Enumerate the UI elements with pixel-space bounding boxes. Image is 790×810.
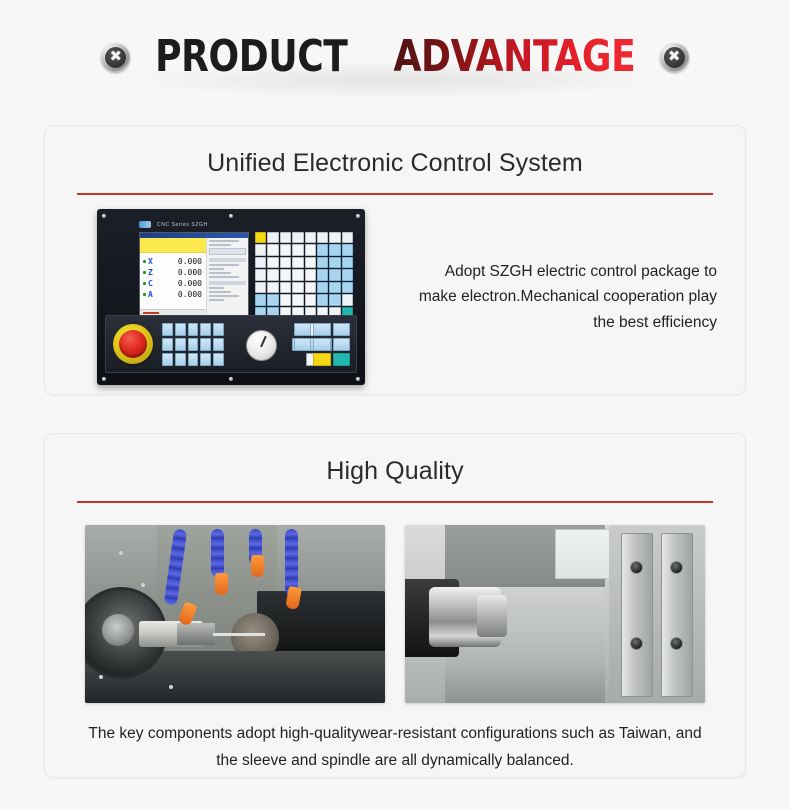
keypad-key-number-0[interactable] bbox=[329, 282, 340, 293]
mode-key[interactable] bbox=[162, 323, 173, 336]
linear-guide-rail bbox=[661, 533, 693, 697]
cycle-start-key[interactable] bbox=[313, 353, 330, 366]
cnc-info-panel bbox=[207, 238, 248, 317]
title-word-product: PRODUCT bbox=[155, 35, 347, 79]
mode-key[interactable] bbox=[162, 353, 173, 366]
mode-key[interactable] bbox=[175, 353, 186, 366]
feed-override-knob[interactable] bbox=[246, 330, 277, 361]
emergency-stop-button[interactable] bbox=[113, 324, 153, 364]
cnc-axis-row: Z 0.000 bbox=[143, 267, 204, 277]
card-1-title: Unified Electronic Control System bbox=[45, 126, 745, 178]
keypad-key-number-2[interactable] bbox=[329, 269, 340, 280]
keypad-key-arrow-up[interactable] bbox=[255, 294, 266, 305]
axis-value: 0.000 bbox=[178, 279, 204, 288]
keypad-key-letter[interactable] bbox=[267, 269, 278, 280]
card-1-body: CNC Series SZGH X 0.000 bbox=[45, 195, 745, 385]
cnc-operator-panel bbox=[105, 315, 357, 373]
feed-hold-key[interactable] bbox=[333, 353, 350, 366]
axis-name: X bbox=[148, 257, 157, 266]
page-title: ✖ PRODUCT ADVANTAGE ✖ bbox=[101, 35, 688, 79]
keypad-key-slash[interactable] bbox=[329, 294, 340, 305]
axis-name: A bbox=[148, 290, 157, 299]
spindle-key[interactable] bbox=[333, 323, 350, 336]
linear-guide-rail bbox=[621, 533, 653, 697]
screw-icon-left: ✖ bbox=[101, 43, 130, 72]
card-2-photo-row bbox=[45, 503, 745, 703]
cnc-axis-row: X 0.000 bbox=[143, 256, 204, 266]
keypad-key-minus[interactable] bbox=[317, 282, 328, 293]
photo-spindle-rails bbox=[405, 525, 705, 703]
mode-key[interactable] bbox=[200, 338, 211, 351]
card-high-quality: High Quality bbox=[44, 433, 746, 778]
keypad-key-alarm[interactable] bbox=[255, 232, 266, 243]
cnc-axis-panel: X 0.000 Z 0.000 C bbox=[140, 238, 207, 317]
cnc-screen-body: X 0.000 Z 0.000 C bbox=[140, 238, 248, 317]
keypad-key-decimal[interactable] bbox=[342, 282, 353, 293]
axis-value: 0.000 bbox=[178, 290, 204, 299]
keypad-key-function[interactable] bbox=[305, 232, 316, 243]
axis-status-dot-icon bbox=[143, 260, 146, 263]
mode-key[interactable] bbox=[213, 338, 224, 351]
keypad-key-number-1[interactable] bbox=[317, 269, 328, 280]
keypad-key-letter[interactable] bbox=[280, 294, 291, 305]
keypad-key-letter[interactable] bbox=[317, 294, 328, 305]
keypad-key-letter[interactable] bbox=[267, 244, 278, 255]
keypad-key-arrow-down[interactable] bbox=[267, 294, 278, 305]
keypad-key-number-5[interactable] bbox=[329, 257, 340, 268]
cnc-status-highlight bbox=[140, 238, 206, 253]
screw-icon-right: ✖ bbox=[660, 43, 689, 72]
title-word-advantage: ADVANTAGE bbox=[393, 35, 635, 79]
keypad-key-number-3[interactable] bbox=[342, 269, 353, 280]
keypad-key-letter[interactable] bbox=[305, 294, 316, 305]
panel-screw-icon bbox=[356, 214, 360, 218]
cnc-mode-key-block[interactable] bbox=[162, 323, 224, 366]
keypad-key-function[interactable] bbox=[255, 282, 266, 293]
cnc-spindle-key-block[interactable] bbox=[294, 323, 350, 366]
cnc-axis-row: A 0.000 bbox=[143, 289, 204, 299]
keypad-key-number-8[interactable] bbox=[329, 244, 340, 255]
panel-screw-icon bbox=[356, 377, 360, 381]
keypad-key-number-7[interactable] bbox=[317, 244, 328, 255]
spindle-key[interactable] bbox=[294, 323, 311, 336]
spindle-key[interactable] bbox=[294, 338, 311, 351]
panel-screw-icon bbox=[102, 214, 106, 218]
keypad-key-letter[interactable] bbox=[305, 257, 316, 268]
mode-key[interactable] bbox=[213, 323, 224, 336]
mode-key[interactable] bbox=[175, 338, 186, 351]
axis-value: 0.000 bbox=[178, 257, 204, 266]
mode-key[interactable] bbox=[200, 323, 211, 336]
keypad-key-number-9[interactable] bbox=[342, 244, 353, 255]
mode-key[interactable] bbox=[188, 338, 199, 351]
coolant-nozzle bbox=[215, 573, 228, 595]
mode-key[interactable] bbox=[213, 353, 224, 366]
mode-key[interactable] bbox=[188, 353, 199, 366]
keypad-key-letter[interactable] bbox=[267, 257, 278, 268]
mode-key[interactable] bbox=[188, 323, 199, 336]
panel-screw-icon bbox=[229, 214, 233, 218]
screw-cross-glyph: ✖ bbox=[109, 49, 122, 64]
axis-value: 0.000 bbox=[178, 268, 204, 277]
keypad-key-letter[interactable] bbox=[292, 294, 303, 305]
keypad-key-letter[interactable] bbox=[280, 282, 291, 293]
keypad-key-function[interactable] bbox=[280, 232, 291, 243]
keypad-key-reset[interactable] bbox=[255, 244, 266, 255]
page-header: ✖ PRODUCT ADVANTAGE ✖ bbox=[0, 0, 790, 118]
screw-cross-glyph: ✖ bbox=[668, 49, 681, 64]
keypad-key-letter[interactable] bbox=[280, 257, 291, 268]
card-unified-electronic-control-system: Unified Electronic Control System CNC Se… bbox=[44, 125, 746, 395]
keypad-key-function[interactable] bbox=[292, 232, 303, 243]
cnc-logo-icon bbox=[139, 221, 151, 228]
keypad-key-number-6[interactable] bbox=[342, 257, 353, 268]
keypad-key-letter[interactable] bbox=[292, 244, 303, 255]
keypad-key-number-4[interactable] bbox=[317, 257, 328, 268]
cnc-axis-row: C 0.000 bbox=[143, 278, 204, 288]
keypad-key-letter[interactable] bbox=[292, 282, 303, 293]
cnc-axis-list: X 0.000 Z 0.000 C bbox=[140, 253, 206, 309]
cnc-panel-image: CNC Series SZGH X 0.000 bbox=[97, 209, 387, 385]
photo-lathe-coolant bbox=[85, 525, 385, 703]
axis-status-dot-icon bbox=[143, 271, 146, 274]
card-2-title: High Quality bbox=[45, 434, 745, 486]
cnc-brand-strip: CNC Series SZGH bbox=[139, 220, 305, 229]
coolant-nozzle bbox=[251, 555, 264, 577]
keypad-key-function[interactable] bbox=[329, 232, 340, 243]
spindle-key[interactable] bbox=[313, 323, 330, 336]
coolant-hose bbox=[211, 529, 224, 577]
keypad-key-letter[interactable] bbox=[292, 269, 303, 280]
spindle-key[interactable] bbox=[313, 338, 330, 351]
spindle-key[interactable] bbox=[333, 338, 350, 351]
keypad-key-function[interactable] bbox=[317, 232, 328, 243]
keypad-key-letter[interactable] bbox=[280, 244, 291, 255]
axis-status-dot-icon bbox=[143, 293, 146, 296]
mode-key[interactable] bbox=[175, 323, 186, 336]
keypad-key-letter[interactable] bbox=[280, 269, 291, 280]
mode-key[interactable] bbox=[200, 353, 211, 366]
mode-key[interactable] bbox=[162, 338, 173, 351]
cnc-control-panel: CNC Series SZGH X 0.000 bbox=[97, 209, 365, 385]
keypad-key-delete[interactable] bbox=[342, 294, 353, 305]
keypad-key-letter[interactable] bbox=[305, 282, 316, 293]
keypad-key-letter[interactable] bbox=[292, 257, 303, 268]
panel-screw-icon bbox=[102, 377, 106, 381]
axis-name: C bbox=[148, 279, 157, 288]
keypad-key-skip[interactable] bbox=[255, 257, 266, 268]
keypad-key-letter[interactable] bbox=[305, 269, 316, 280]
card-1-description: Adopt SZGH electric control package to m… bbox=[387, 259, 745, 334]
keypad-key-function[interactable] bbox=[267, 232, 278, 243]
keypad-key-letter[interactable] bbox=[267, 282, 278, 293]
keypad-key-letter[interactable] bbox=[305, 244, 316, 255]
collet-chuck bbox=[477, 595, 507, 637]
card-2-caption: The key components adopt high-qualitywea… bbox=[45, 703, 745, 774]
cnc-info-button bbox=[209, 248, 246, 255]
axis-name: Z bbox=[148, 268, 157, 277]
axis-status-dot-icon bbox=[143, 282, 146, 285]
coolant-hose bbox=[285, 529, 298, 595]
cnc-display-screen: X 0.000 Z 0.000 C bbox=[139, 232, 249, 318]
panel-screw-icon bbox=[229, 377, 233, 381]
keypad-key-function[interactable] bbox=[255, 269, 266, 280]
keypad-key-function[interactable] bbox=[342, 232, 353, 243]
cnc-keypad[interactable] bbox=[255, 232, 353, 318]
cnc-brand-text: CNC Series SZGH bbox=[157, 222, 208, 228]
